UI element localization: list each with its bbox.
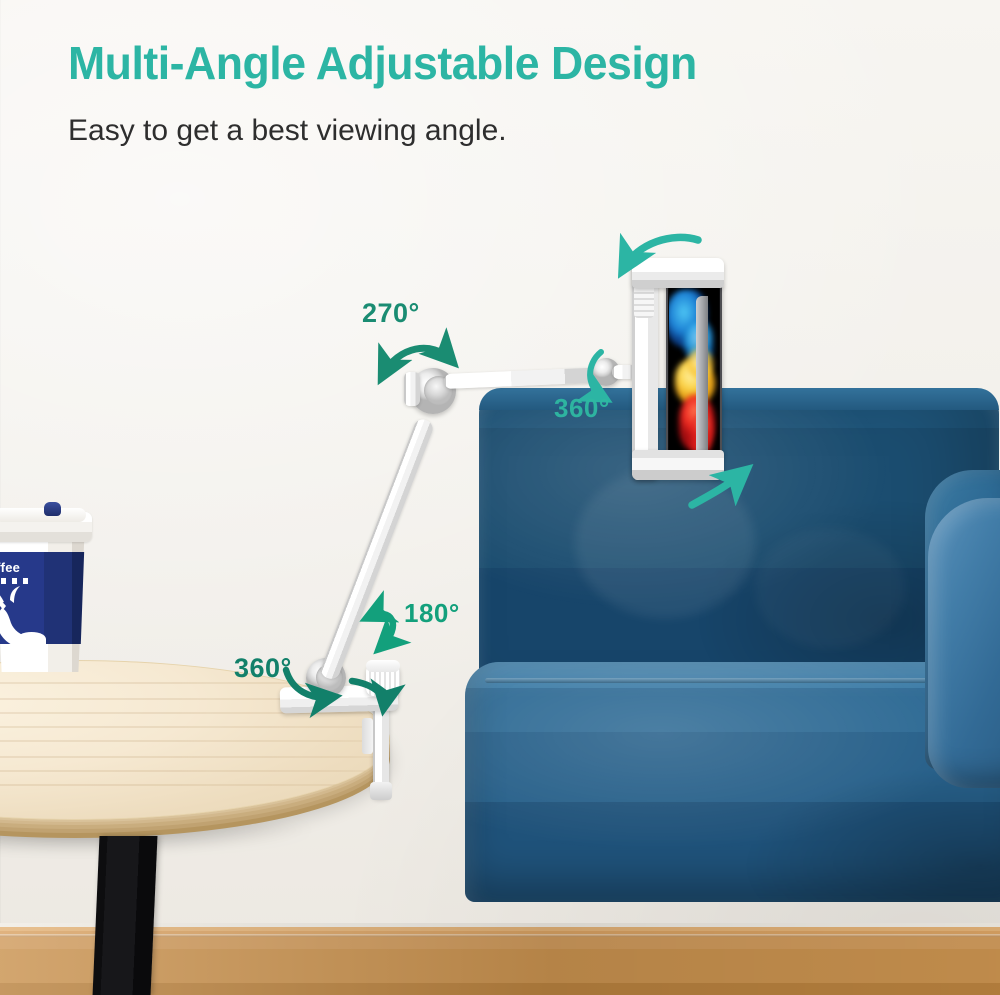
page-title: Multi-Angle Adjustable Design <box>68 40 697 86</box>
cup-lid-tab <box>44 502 61 516</box>
annotation-360-head-label: 360° <box>554 393 610 424</box>
annotation-360-base-label: 360° <box>234 653 292 684</box>
sofa-crease <box>755 528 905 648</box>
cup-lid-top <box>0 508 86 522</box>
sofa-seat-sheen <box>465 662 1000 902</box>
sofa <box>455 388 1000 948</box>
product-marketing-image: offee <box>0 0 1000 995</box>
sofa-seam <box>485 678 1000 683</box>
cup-brand-text: offee <box>0 560 20 575</box>
annotation-270-label: 270° <box>362 298 420 329</box>
deer-logo-icon <box>0 586 60 648</box>
coffee-cup: offee <box>0 500 88 672</box>
sofa-cushion-pillow <box>928 498 1000 788</box>
annotation-180-label: 180° <box>404 598 460 629</box>
sofa-crease <box>575 468 755 618</box>
page-subtitle: Easy to get a best viewing angle. <box>68 114 507 149</box>
cup-decor-dots <box>0 578 34 584</box>
table-leg <box>93 836 158 995</box>
